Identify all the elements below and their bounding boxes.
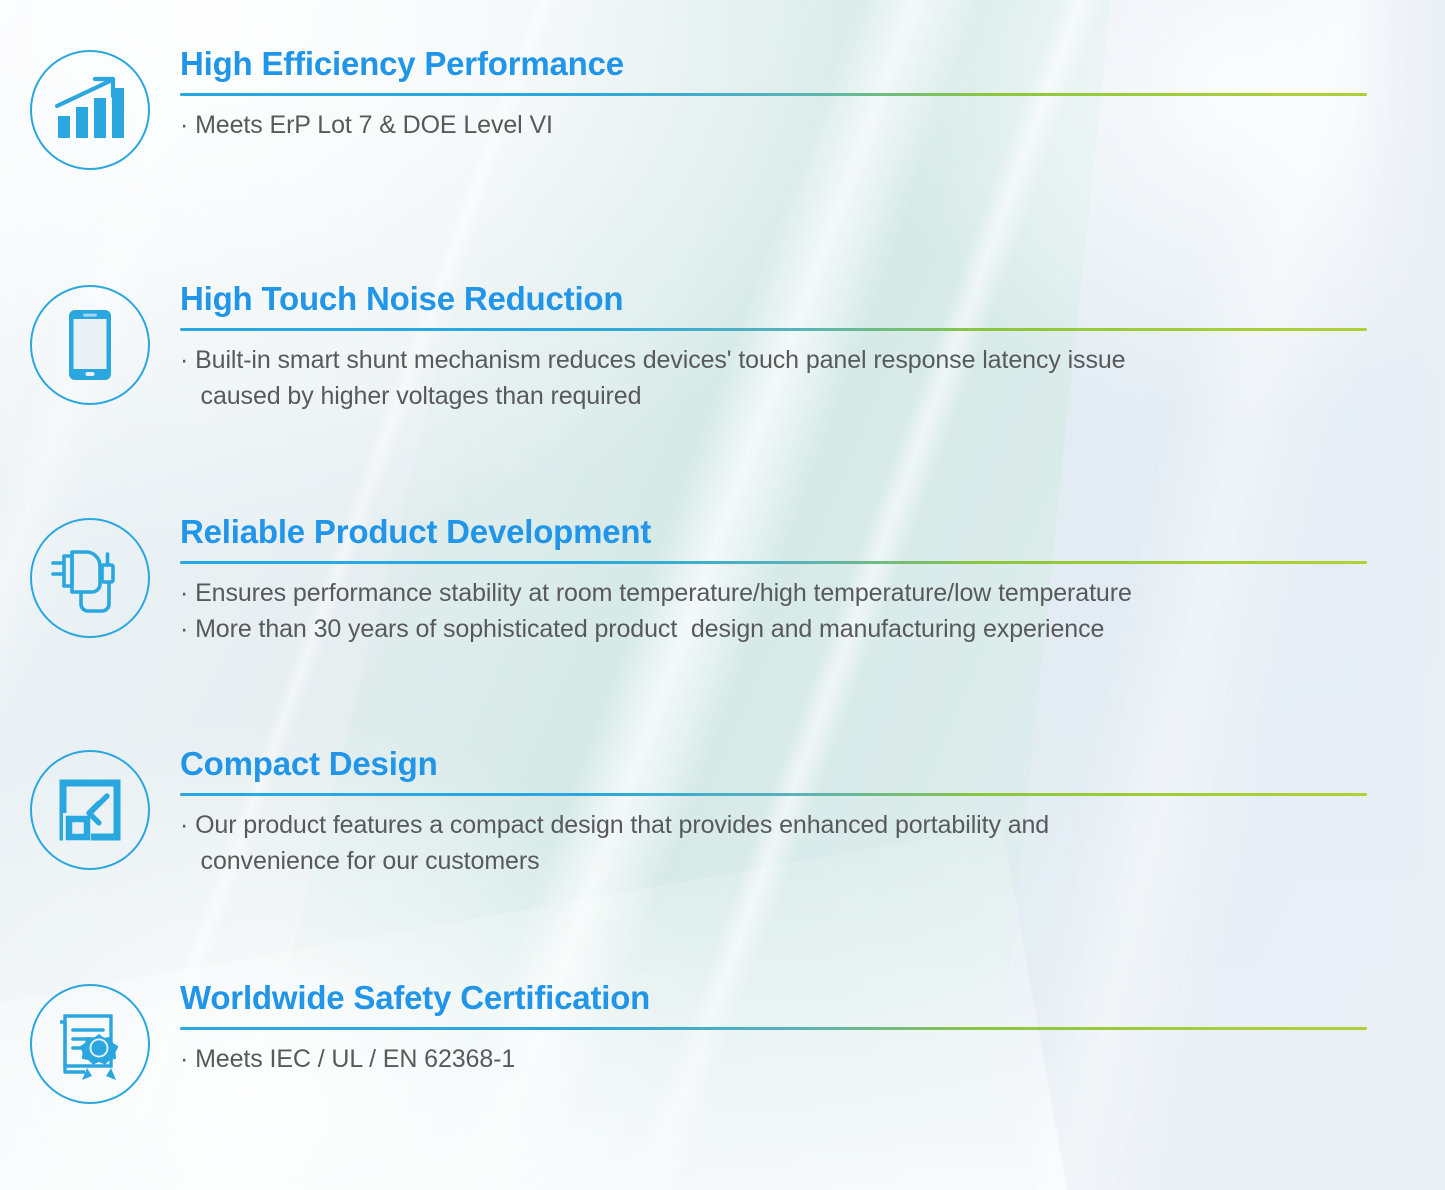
feature-item-worldwide-safety-certification: Worldwide Safety Certification · Meets I… (0, 980, 1445, 1104)
icon-circle-frame (30, 750, 150, 870)
feature-title: Compact Design (180, 746, 1367, 782)
feature-bullet-line: caused by higher voltages than required (180, 378, 1367, 415)
feature-list: High Efficiency Performance · Meets ErP … (0, 0, 1445, 1190)
feature-icon-container (0, 980, 180, 1104)
feature-description: · Built-in smart shunt mechanism reduces… (180, 342, 1367, 415)
feature-bullet-line: · Meets ErP Lot 7 & DOE Level VI (180, 107, 1367, 144)
feature-bullet-line: · Our product features a compact design … (180, 807, 1367, 844)
feature-bullet-line: · Meets IEC / UL / EN 62368-1 (180, 1041, 1367, 1078)
icon-circle-frame (30, 518, 150, 638)
feature-divider-rule (180, 793, 1367, 796)
feature-description: · Ensures performance stability at room … (180, 575, 1367, 648)
feature-title: High Touch Noise Reduction (180, 281, 1367, 317)
certificate-seal-icon (55, 1008, 125, 1080)
feature-title: Reliable Product Development (180, 514, 1367, 550)
feature-text-block: High Efficiency Performance · Meets ErP … (180, 46, 1445, 143)
feature-title: Worldwide Safety Certification (180, 980, 1367, 1016)
feature-text-block: Reliable Product Development · Ensures p… (180, 514, 1445, 648)
feature-icon-container (0, 514, 180, 638)
feature-title: High Efficiency Performance (180, 46, 1367, 82)
feature-text-block: Compact Design · Our product features a … (180, 746, 1445, 880)
feature-description: · Meets ErP Lot 7 & DOE Level VI (180, 107, 1367, 144)
bar-chart-growth-icon (54, 76, 126, 144)
feature-divider-rule (180, 1027, 1367, 1030)
feature-icon-container (0, 746, 180, 870)
icon-circle-frame (30, 50, 150, 170)
icon-circle-frame (30, 285, 150, 405)
feature-item-compact-design: Compact Design · Our product features a … (0, 746, 1445, 880)
feature-description: · Meets IEC / UL / EN 62368-1 (180, 1041, 1367, 1078)
feature-item-reliable-product-development: Reliable Product Development · Ensures p… (0, 514, 1445, 648)
smartphone-icon (67, 308, 113, 382)
feature-divider-rule (180, 561, 1367, 564)
feature-bullet-line: · Built-in smart shunt mechanism reduces… (180, 342, 1367, 379)
feature-bullet-line: convenience for our customers (180, 843, 1367, 880)
feature-item-high-efficiency-performance: High Efficiency Performance · Meets ErP … (0, 46, 1445, 170)
feature-icon-container (0, 46, 180, 170)
feature-text-block: High Touch Noise Reduction · Built-in sm… (180, 281, 1445, 415)
icon-circle-frame (30, 984, 150, 1104)
feature-text-block: Worldwide Safety Certification · Meets I… (180, 980, 1445, 1077)
feature-divider-rule (180, 328, 1367, 331)
feature-bullet-line: · Ensures performance stability at room … (180, 575, 1367, 612)
feature-bullet-line: · More than 30 years of sophisticated pr… (180, 611, 1367, 648)
feature-description: · Our product features a compact design … (180, 807, 1367, 880)
feature-item-high-touch-noise-reduction: High Touch Noise Reduction · Built-in sm… (0, 281, 1445, 415)
feature-icon-container (0, 281, 180, 405)
power-adapter-icon (50, 541, 130, 615)
compact-resize-icon (57, 777, 123, 843)
feature-divider-rule (180, 93, 1367, 96)
